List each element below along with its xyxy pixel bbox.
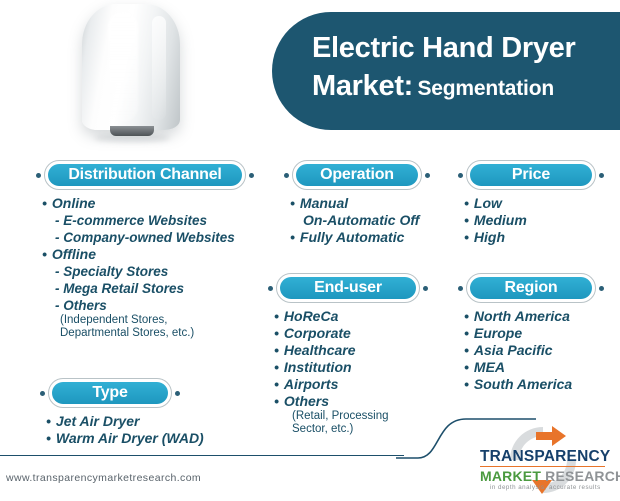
- logo-transparency-text: TRANSPARENCY: [480, 448, 610, 466]
- section-operation: Operation•ManualOn-Automatic Off•Fully A…: [284, 160, 430, 246]
- list-item-label: North America: [474, 308, 570, 324]
- section-items-distribution-channel: •Online- E-commerce Websites- Company-ow…: [36, 195, 254, 340]
- list-item: •Offline: [42, 246, 254, 263]
- list-item: •Fully Automatic: [290, 229, 430, 246]
- list-item: •Manual: [290, 195, 430, 212]
- pill-dot-left: [458, 286, 463, 291]
- bullet-icon: •: [290, 195, 295, 211]
- list-sub-item: - Company-owned Websites: [42, 229, 254, 246]
- bullet-icon: •: [42, 195, 47, 211]
- bullet-icon: •: [464, 325, 469, 341]
- pill-price[interactable]: Price: [466, 160, 596, 190]
- pill-dot-left: [268, 286, 273, 291]
- list-item-label: Institution: [284, 359, 352, 375]
- section-end-user: End-user•HoReCa•Corporate•Healthcare•Ins…: [268, 273, 428, 436]
- bullet-icon: •: [46, 430, 51, 446]
- list-item: •Low: [464, 195, 604, 212]
- bullet-icon: •: [290, 229, 295, 245]
- list-item-label: Warm Air Dryer (WAD): [56, 430, 204, 446]
- pill-dot-left: [40, 391, 45, 396]
- bullet-icon: •: [464, 229, 469, 245]
- list-item: •Online: [42, 195, 254, 212]
- title-line-1: Electric Hand Dryer: [312, 32, 575, 65]
- dryer-highlight: [108, 12, 138, 122]
- title-market: Market:: [312, 70, 413, 102]
- section-header-distribution-channel: Distribution Channel: [36, 160, 254, 190]
- list-item-label: Fully Automatic: [300, 229, 405, 245]
- pill-end-user[interactable]: End-user: [276, 273, 420, 303]
- title-banner: Electric Hand Dryer Market: Segmentation: [272, 12, 620, 130]
- section-items-operation: •ManualOn-Automatic Off•Fully Automatic: [284, 195, 430, 246]
- pill-label: Type: [52, 382, 168, 404]
- list-sub-item: - Others: [42, 297, 254, 314]
- pill-label: Distribution Channel: [48, 164, 242, 186]
- section-header-end-user: End-user: [268, 273, 428, 303]
- section-items-region: •North America•Europe•Asia Pacific•MEA•S…: [458, 308, 604, 393]
- bullet-icon: •: [464, 359, 469, 375]
- section-items-type: •Jet Air Dryer•Warm Air Dryer (WAD): [40, 413, 180, 447]
- bullet-icon: •: [274, 308, 279, 324]
- bullet-icon: •: [274, 376, 279, 392]
- pill-region[interactable]: Region: [466, 273, 596, 303]
- list-item: •Others: [274, 393, 428, 410]
- list-item: •Asia Pacific: [464, 342, 604, 359]
- pill-label: End-user: [280, 277, 416, 299]
- pill-label: Region: [470, 277, 592, 299]
- section-region: Region•North America•Europe•Asia Pacific…: [458, 273, 604, 393]
- list-item-label: Online: [52, 195, 96, 211]
- list-item-label: Europe: [474, 325, 522, 341]
- title-line-2: Market: Segmentation: [312, 70, 554, 103]
- list-item: •Healthcare: [274, 342, 428, 359]
- pill-dot-right: [599, 286, 604, 291]
- list-item: •Institution: [274, 359, 428, 376]
- list-item-note: Departmental Stores, etc.): [42, 327, 254, 340]
- section-header-price: Price: [458, 160, 604, 190]
- logo-market-research-text: MARKET RESEARCH: [480, 468, 620, 484]
- list-item: •Medium: [464, 212, 604, 229]
- section-header-region: Region: [458, 273, 604, 303]
- section-header-type: Type: [40, 378, 180, 408]
- list-item-label: Offline: [52, 246, 96, 262]
- dryer-edge-highlight: [152, 16, 166, 120]
- list-item-label: Jet Air Dryer: [56, 413, 140, 429]
- footer-website-url[interactable]: www.transparencymarketresearch.com: [6, 472, 201, 484]
- bullet-icon: •: [274, 342, 279, 358]
- list-item-label: South America: [474, 376, 572, 392]
- list-item: •South America: [464, 376, 604, 393]
- list-item-label: Manual: [300, 195, 348, 211]
- list-item-label: Others: [284, 393, 329, 409]
- section-header-operation: Operation: [284, 160, 430, 190]
- footer-divider-line: [0, 455, 404, 456]
- list-item-label: Low: [474, 195, 502, 211]
- dryer-body: [82, 4, 180, 130]
- pill-dot-left: [458, 173, 463, 178]
- list-item: •High: [464, 229, 604, 246]
- list-item-label: Medium: [474, 212, 527, 228]
- pill-dot-right: [425, 173, 430, 178]
- pill-dot-left: [284, 173, 289, 178]
- bullet-icon: •: [464, 308, 469, 324]
- bullet-icon: •: [464, 376, 469, 392]
- pill-label: Operation: [296, 164, 418, 186]
- list-item-label: High: [474, 229, 505, 245]
- tmr-logo[interactable]: TRANSPARENCY MARKET RESEARCH in depth an…: [470, 424, 616, 496]
- pill-dot-left: [36, 173, 41, 178]
- logo-market-word: MARKET: [480, 468, 541, 484]
- bullet-icon: •: [46, 413, 51, 429]
- list-item-note: (Independent Stores,: [42, 314, 254, 327]
- list-item-label: Healthcare: [284, 342, 356, 358]
- list-item-label: MEA: [474, 359, 505, 375]
- hand-dryer-image: [78, 4, 184, 144]
- bullet-icon: •: [274, 325, 279, 341]
- pill-dot-right: [423, 286, 428, 291]
- list-item: •Europe: [464, 325, 604, 342]
- list-item-label: Airports: [284, 376, 338, 392]
- logo-tagline: in depth analysis, accurate results: [490, 484, 601, 491]
- bullet-icon: •: [42, 246, 47, 262]
- list-item: •North America: [464, 308, 604, 325]
- section-type: Type•Jet Air Dryer•Warm Air Dryer (WAD): [40, 378, 180, 447]
- bullet-icon: •: [274, 359, 279, 375]
- list-item: •HoReCa: [274, 308, 428, 325]
- pill-dot-right: [599, 173, 604, 178]
- logo-research-word: RESEARCH: [541, 468, 620, 484]
- section-price: Price•Low•Medium•High: [458, 160, 604, 246]
- section-distribution-channel: Distribution Channel•Online- E-commerce …: [36, 160, 254, 340]
- list-item: •Airports: [274, 376, 428, 393]
- pill-distribution-channel[interactable]: Distribution Channel: [44, 160, 246, 190]
- bullet-icon: •: [464, 212, 469, 228]
- list-sub-item: - Specialty Stores: [42, 263, 254, 280]
- list-item: •Warm Air Dryer (WAD): [46, 430, 180, 447]
- list-item-label: Corporate: [284, 325, 351, 341]
- list-sub-item: - E-commerce Websites: [42, 212, 254, 229]
- list-item: •Corporate: [274, 325, 428, 342]
- list-sub-item: - Mega Retail Stores: [42, 280, 254, 297]
- pill-dot-right: [175, 391, 180, 396]
- bullet-icon: •: [464, 342, 469, 358]
- list-item: •MEA: [464, 359, 604, 376]
- list-item: •Jet Air Dryer: [46, 413, 180, 430]
- list-item-label: Asia Pacific: [474, 342, 553, 358]
- pill-dot-right: [249, 173, 254, 178]
- title-segmentation: Segmentation: [418, 77, 554, 100]
- bullet-icon: •: [464, 195, 469, 211]
- section-items-price: •Low•Medium•High: [458, 195, 604, 246]
- list-item-continuation: On-Automatic Off: [290, 212, 430, 229]
- bullet-icon: •: [274, 393, 279, 409]
- list-item-label: HoReCa: [284, 308, 338, 324]
- pill-operation[interactable]: Operation: [292, 160, 422, 190]
- dryer-base: [110, 126, 154, 136]
- pill-label: Price: [470, 164, 592, 186]
- pill-type[interactable]: Type: [48, 378, 172, 408]
